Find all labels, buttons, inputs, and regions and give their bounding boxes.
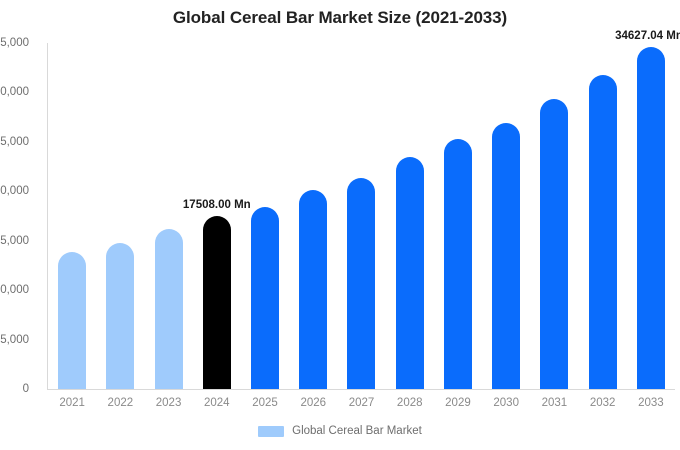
bar[interactable] xyxy=(155,229,183,389)
y-axis: 05,00010,00015,00020,00025,00030,00035,0… xyxy=(0,0,38,450)
bar[interactable] xyxy=(589,75,617,389)
chart-title: Global Cereal Bar Market Size (2021-2033… xyxy=(0,8,680,28)
bar[interactable] xyxy=(299,190,327,389)
bar-slot: 17508.00 Mn xyxy=(193,43,241,389)
bar-chart: Global Cereal Bar Market Size (2021-2033… xyxy=(0,0,680,450)
bar[interactable]: 17508.00 Mn xyxy=(203,216,231,389)
x-axis-tick-label: 2027 xyxy=(349,397,375,409)
bar-slot xyxy=(241,43,289,389)
y-axis-tick-label: 25,000 xyxy=(0,136,38,148)
chart-legend: Global Cereal Bar Market xyxy=(0,425,680,437)
x-axis-tick-label: 2033 xyxy=(638,397,664,409)
bar-slot xyxy=(434,43,482,389)
x-axis-tick-label: 2029 xyxy=(445,397,471,409)
x-axis-tick-label: 2032 xyxy=(590,397,616,409)
x-axis-tick-label: 2025 xyxy=(252,397,278,409)
bar-slot xyxy=(289,43,337,389)
bar-slot xyxy=(96,43,144,389)
bar[interactable] xyxy=(347,178,375,389)
bar-value-label: 34627.04 Mn xyxy=(615,30,680,42)
y-axis-tick-label: 0 xyxy=(0,383,38,395)
x-axis-line xyxy=(47,389,675,390)
bar[interactable] xyxy=(492,123,520,389)
x-axis-tick-label: 2024 xyxy=(204,397,230,409)
bar[interactable]: 34627.04 Mn xyxy=(637,47,665,389)
bar-slot xyxy=(144,43,192,389)
x-axis-tick-label: 2030 xyxy=(493,397,519,409)
bar[interactable] xyxy=(540,99,568,389)
bar[interactable] xyxy=(444,139,472,389)
bar-slot xyxy=(579,43,627,389)
legend-label: Global Cereal Bar Market xyxy=(292,425,422,437)
y-axis-tick-label: 35,000 xyxy=(0,37,38,49)
x-axis-tick-label: 2021 xyxy=(59,397,85,409)
bar[interactable] xyxy=(396,157,424,389)
y-axis-tick-label: 10,000 xyxy=(0,284,38,296)
bar-slot xyxy=(337,43,385,389)
bar[interactable] xyxy=(58,252,86,389)
bar-series: 17508.00 Mn34627.04 Mn xyxy=(48,43,675,389)
y-axis-tick-label: 30,000 xyxy=(0,86,38,98)
bar[interactable] xyxy=(251,207,279,389)
bar-slot xyxy=(530,43,578,389)
bar-slot: 34627.04 Mn xyxy=(627,43,675,389)
x-axis-tick-label: 2023 xyxy=(156,397,182,409)
legend-swatch xyxy=(258,426,284,437)
bar-slot xyxy=(482,43,530,389)
x-axis-tick-label: 2026 xyxy=(300,397,326,409)
y-axis-tick-label: 15,000 xyxy=(0,235,38,247)
bar[interactable] xyxy=(106,243,134,389)
y-axis-tick-label: 5,000 xyxy=(0,334,38,346)
x-axis-tick-label: 2022 xyxy=(108,397,134,409)
bar-slot xyxy=(386,43,434,389)
bar-slot xyxy=(48,43,96,389)
x-axis-tick-label: 2028 xyxy=(397,397,423,409)
x-axis-tick-label: 2031 xyxy=(542,397,568,409)
y-axis-tick-label: 20,000 xyxy=(0,185,38,197)
